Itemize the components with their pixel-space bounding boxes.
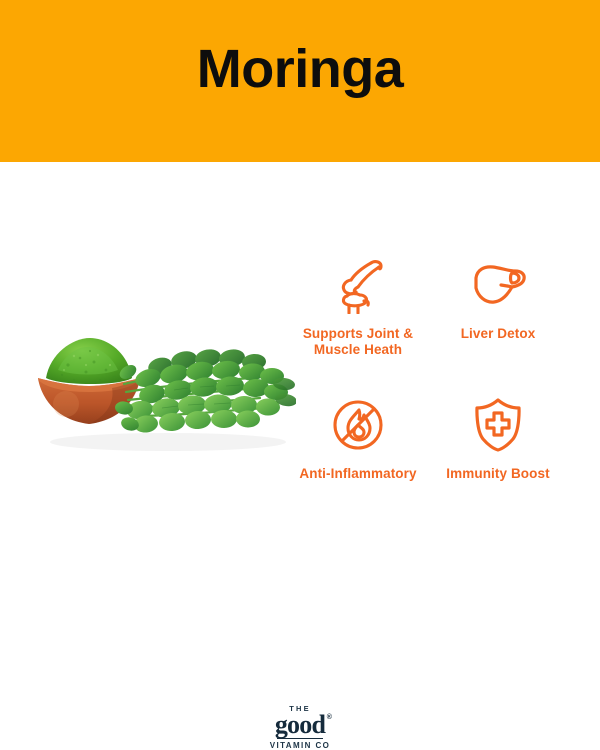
shield-plus-immunity-icon: [473, 397, 523, 453]
brand-logo[interactable]: THE good® VITAMIN CO: [0, 706, 600, 748]
header-banner: Moringa: [0, 0, 600, 162]
benefits-row-bottom: Anti-Inflammatory Immunity Boost: [288, 394, 568, 519]
knee-joint-bone-icon: [330, 256, 386, 314]
product-image: [28, 320, 296, 460]
benefit-label: Anti-Inflammatory: [299, 466, 416, 482]
liver-icon: [468, 261, 528, 309]
logo-wordmark-text: good: [275, 710, 325, 739]
benefit-icon-wrapper: [331, 394, 385, 456]
benefits-grid: Supports Joint & Muscle Heath Liver Deto…: [288, 254, 568, 564]
benefit-icon-wrapper: [473, 394, 523, 456]
benefits-row-top: Supports Joint & Muscle Heath Liver Deto…: [288, 254, 568, 394]
main-stage: Supports Joint & Muscle Heath Liver Deto…: [0, 162, 600, 600]
benefit-item-liver-detox[interactable]: Liver Detox: [428, 254, 568, 394]
benefit-item-supports-joint-muscle[interactable]: Supports Joint & Muscle Heath: [288, 254, 428, 394]
benefit-label: Liver Detox: [461, 326, 536, 342]
registered-trademark-icon: ®: [327, 715, 331, 721]
benefit-item-anti-inflammatory[interactable]: Anti-Inflammatory: [288, 394, 428, 519]
moringa-bowl-and-leaves-illustration: [28, 320, 296, 460]
benefit-label: Immunity Boost: [446, 466, 549, 482]
benefit-label: Supports Joint & Muscle Heath: [303, 326, 413, 359]
moringa-leaf-bundle: [114, 347, 296, 433]
benefit-icon-wrapper: [330, 254, 386, 316]
benefit-item-immunity-boost[interactable]: Immunity Boost: [428, 394, 568, 519]
benefit-icon-wrapper: [468, 254, 528, 316]
logo-vitamin-co-text: VITAMIN CO: [270, 741, 331, 750]
logo-stack: THE good® VITAMIN CO: [270, 704, 331, 750]
page-title: Moringa: [0, 38, 600, 100]
logo-wordmark: good®: [275, 713, 325, 737]
no-flame-anti-inflammatory-icon: [331, 398, 385, 452]
